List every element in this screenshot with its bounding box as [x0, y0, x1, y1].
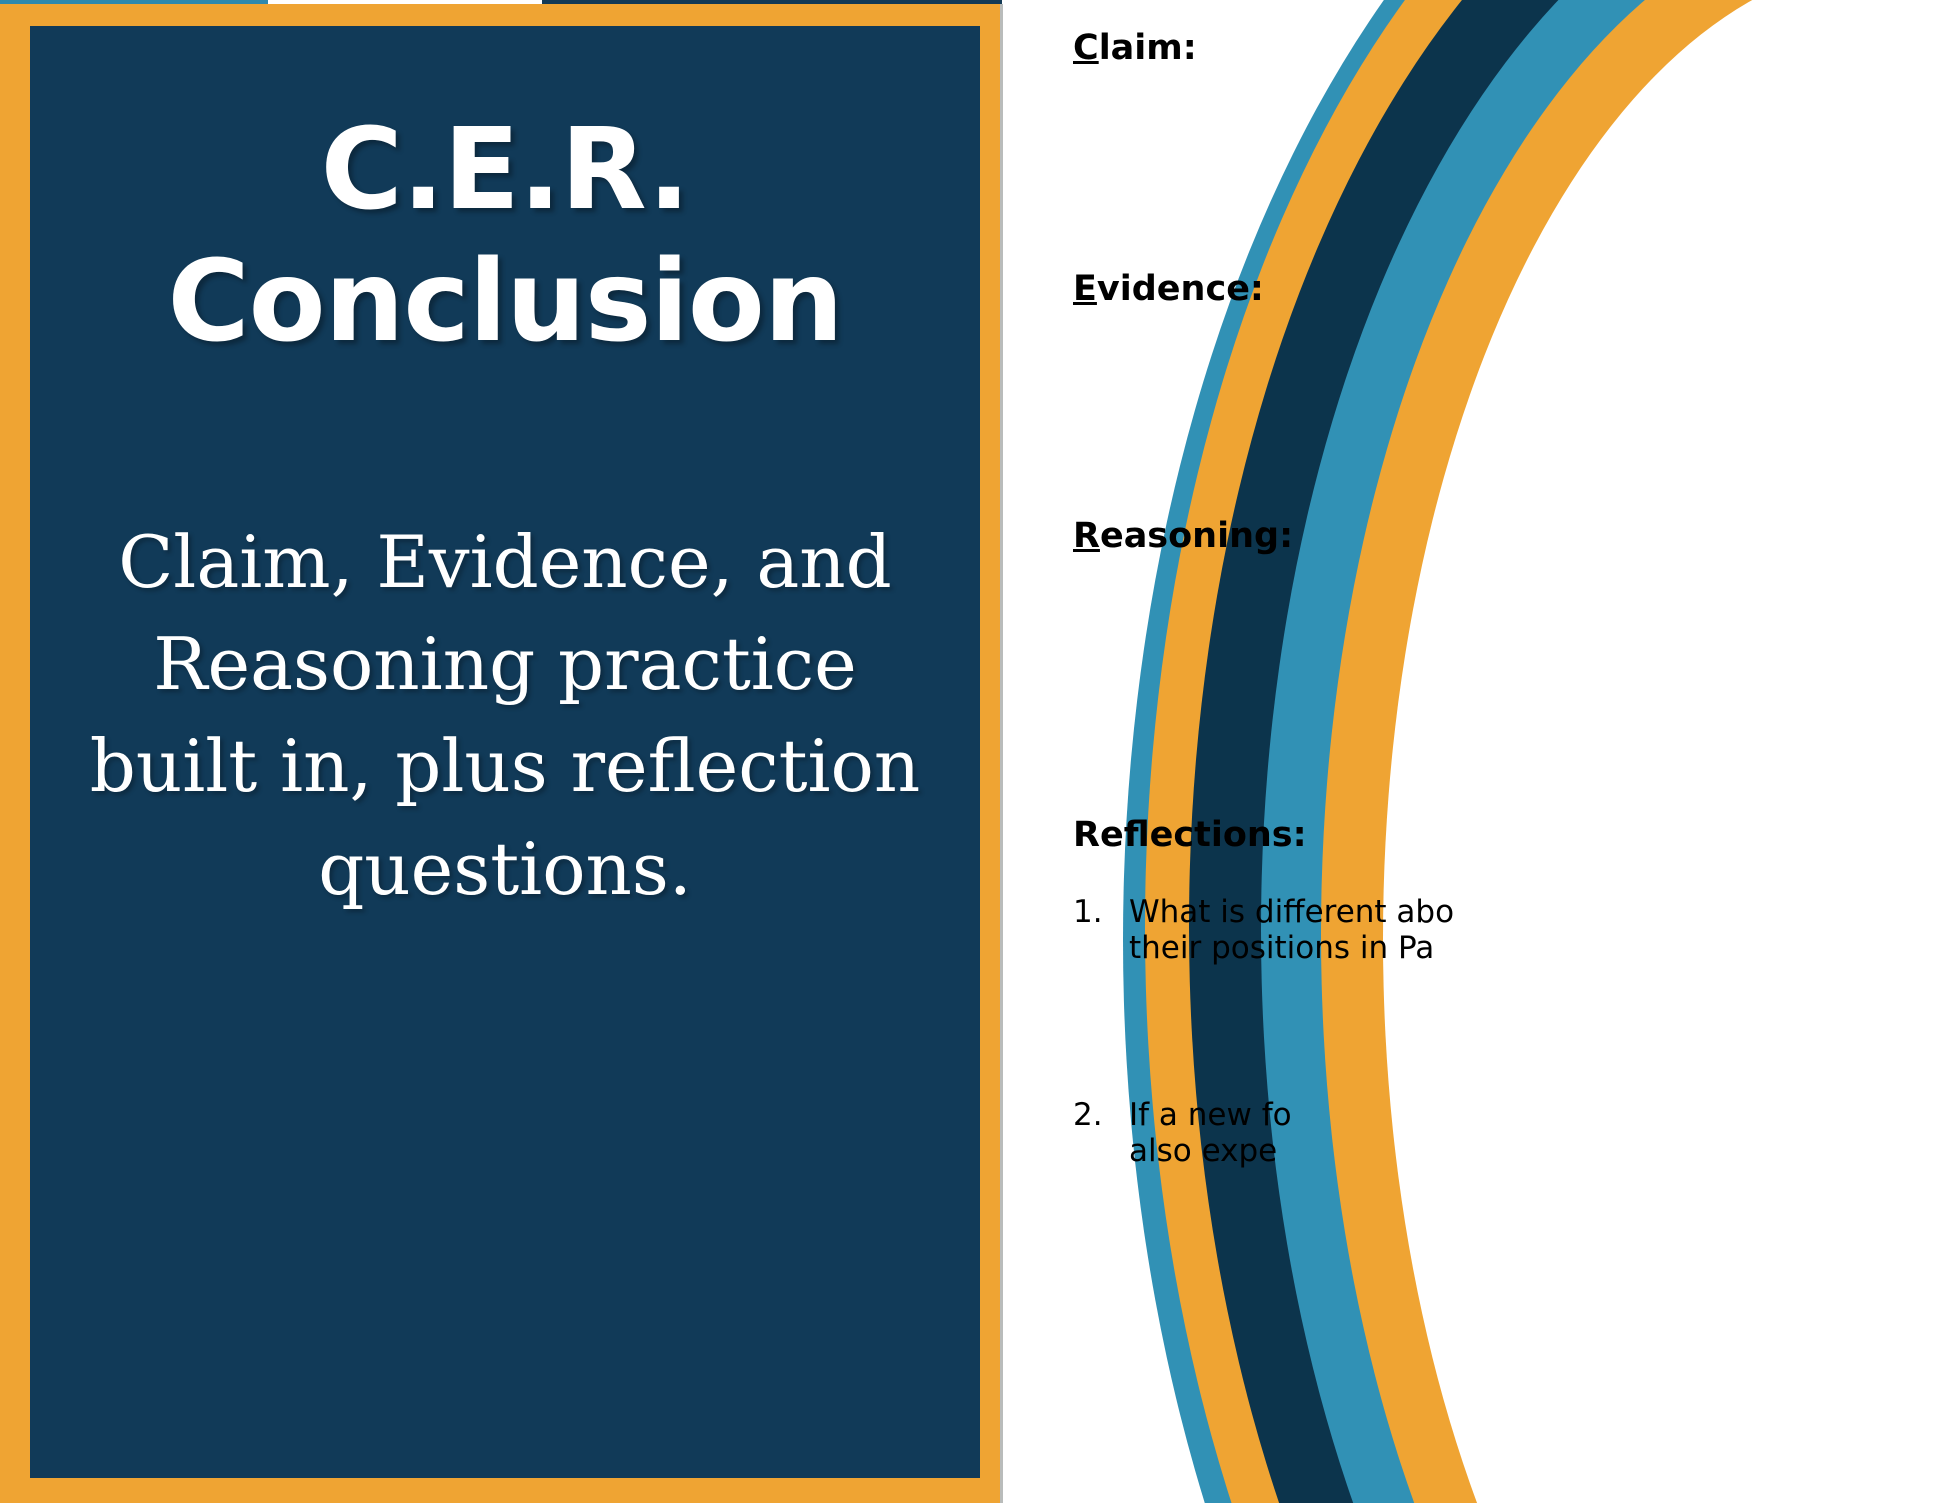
document-text-layer: Claim: Evidence: Reasoning: Reflections:…: [1003, 0, 1946, 1503]
reasoning-rest: easoning:: [1100, 516, 1293, 556]
page-title: C.E.R. Conclusion: [30, 104, 980, 368]
title-card: C.E.R. Conclusion Claim, Evidence, and R…: [30, 26, 980, 1478]
reflection-text-2: If a new fo also expe: [1129, 1097, 1599, 1170]
top-trim-white: [268, 0, 542, 4]
reflection-number-1: 1.: [1073, 894, 1103, 930]
claim-label: Claim:: [1073, 28, 1197, 68]
page-subtitle: Claim, Evidence, and Reasoning practice …: [76, 511, 934, 920]
slide-canvas: Claim: Evidence: Reasoning: Reflections:…: [0, 0, 1946, 1503]
top-trim-teal: [0, 0, 268, 4]
reflections-heading: Reflections:: [1073, 815, 1307, 855]
claim-initial: C: [1073, 28, 1099, 68]
reflection-number-2: 2.: [1073, 1097, 1103, 1133]
claim-rest: laim:: [1099, 28, 1197, 68]
evidence-initial: E: [1073, 269, 1097, 309]
evidence-rest: vidence:: [1097, 269, 1264, 309]
reasoning-label: Reasoning:: [1073, 516, 1293, 556]
evidence-label: Evidence:: [1073, 269, 1264, 309]
top-trim-navy: [542, 0, 1002, 4]
title-panel-frame: C.E.R. Conclusion Claim, Evidence, and R…: [0, 4, 1003, 1503]
reflection-text-1: What is different abo their positions in…: [1129, 894, 1599, 967]
document-panel: Claim: Evidence: Reasoning: Reflections:…: [1003, 0, 1946, 1503]
reasoning-initial: R: [1073, 516, 1100, 556]
